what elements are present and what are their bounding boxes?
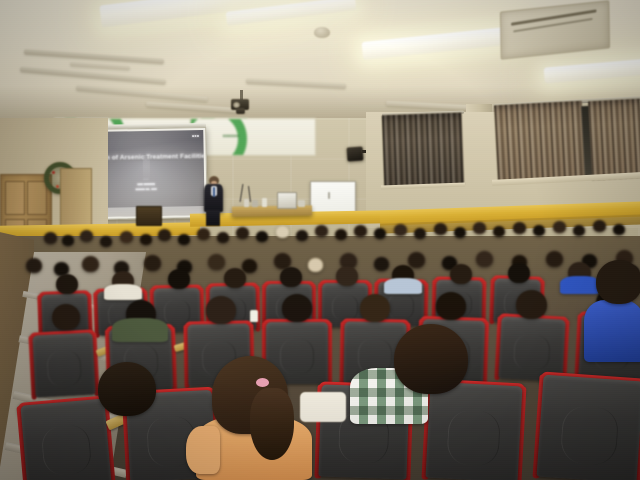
audience-body: [384, 278, 422, 294]
white-bag: [300, 392, 346, 422]
window-curtain[interactable]: [588, 99, 640, 181]
audience-head: [516, 290, 547, 319]
theater-seat: [20, 399, 111, 480]
audience-body: [104, 284, 142, 300]
theater-seat: [537, 375, 640, 480]
banner-text-right: ■■■■■■: [223, 133, 239, 138]
table-equipment: [298, 200, 305, 207]
audience-head: [336, 266, 358, 286]
audience-head: [56, 274, 78, 294]
presenter-tie: [213, 187, 215, 197]
audience-body: [560, 276, 600, 294]
audience-head: [206, 296, 236, 324]
wall-speaker: [347, 146, 364, 161]
audience-head: [394, 324, 468, 394]
table-equipment: [262, 198, 267, 207]
audience-head: [596, 260, 640, 304]
smoke-detector-icon: [314, 27, 330, 38]
lecture-hall-photo: ■■■■■ ■■■■■■ ■■■ Design of Arsenic Treat…: [0, 0, 640, 480]
slide-logo-top-right: ■■■: [192, 134, 199, 138]
window-curtain[interactable]: [494, 101, 586, 184]
table-equipment: [244, 199, 249, 207]
foreground-person-ponytail: [250, 388, 294, 460]
wall-banner: ■■■■■■: [190, 118, 316, 156]
projector-bracket: [236, 108, 245, 114]
audience-head: [168, 269, 190, 289]
audience-head: [282, 294, 312, 322]
audience-head: [98, 362, 156, 416]
audience-body: [112, 318, 168, 342]
audience-head: [436, 292, 466, 320]
seat-row-1: [0, 352, 640, 480]
paper-cup: [250, 310, 258, 322]
window-curtain[interactable]: [382, 113, 464, 188]
audience-head: [450, 264, 472, 284]
foreground-person-arm: [186, 426, 220, 474]
audience-head: [508, 263, 530, 283]
blue-top-person: [584, 300, 640, 362]
hair-tie: [256, 378, 269, 387]
theater-seat: [426, 382, 523, 480]
audience-head: [360, 294, 390, 322]
audience-head: [280, 267, 302, 287]
table-equipment: [252, 200, 258, 207]
front-monitor: [277, 192, 297, 209]
audience-head: [52, 304, 80, 330]
audience-head: [224, 268, 246, 288]
front-table: [232, 205, 312, 216]
